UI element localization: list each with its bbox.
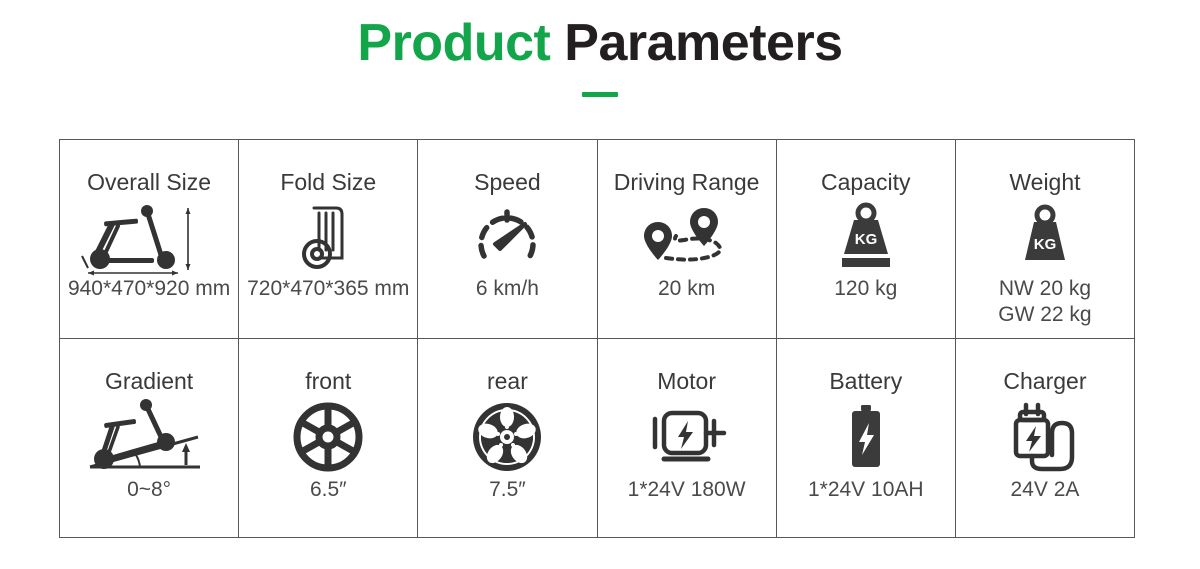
spec-value: 0~8° bbox=[127, 477, 171, 503]
battery-icon bbox=[836, 397, 896, 477]
scooter-folded-dimensions-icon bbox=[74, 200, 224, 276]
speedometer-icon bbox=[469, 200, 545, 276]
table-row: Overall Size bbox=[60, 140, 1134, 338]
spec-label: Charger bbox=[1003, 367, 1086, 395]
spec-label: Weight bbox=[1009, 168, 1080, 196]
spec-label: Capacity bbox=[821, 168, 910, 196]
product-parameters-page: Product Parameters Overall Size bbox=[0, 0, 1200, 569]
spec-value: 720*470*365 mm bbox=[247, 276, 409, 302]
spec-table: Overall Size bbox=[59, 139, 1135, 538]
spec-cell-driving-range: Driving Range bbox=[597, 140, 776, 338]
spec-cell-weight: Weight KG NW 20 kg GW 22 kg bbox=[955, 140, 1134, 338]
scooter-incline-angle-icon bbox=[74, 397, 224, 477]
scooter-folded-upright-icon bbox=[288, 200, 368, 276]
motor-icon bbox=[642, 397, 732, 477]
spec-label: front bbox=[305, 367, 351, 395]
wheel-spoke-icon bbox=[290, 397, 366, 477]
spec-label: rear bbox=[487, 367, 528, 395]
title-underline-rule bbox=[582, 92, 618, 97]
kg-icon-text: KG bbox=[855, 231, 878, 248]
spec-cell-fold-size: Fold Size bbox=[238, 140, 417, 338]
spec-label: Overall Size bbox=[87, 168, 211, 196]
weight-kg-icon: KG bbox=[826, 200, 906, 276]
charger-plug-icon bbox=[1002, 397, 1088, 477]
spec-value: 120 kg bbox=[834, 276, 897, 302]
spec-cell-charger: Charger bbox=[955, 339, 1134, 537]
page-title-rest: Parameters bbox=[550, 14, 842, 72]
spec-value: 1*24V 180W bbox=[628, 477, 746, 503]
spec-value-secondary: GW 22 kg bbox=[998, 302, 1091, 328]
spec-value: 940*470*920 mm bbox=[68, 276, 230, 302]
table-row: Gradient bbox=[60, 338, 1134, 537]
spec-value: 6.5″ bbox=[310, 477, 347, 503]
spec-label: Battery bbox=[829, 367, 902, 395]
route-map-pins-icon bbox=[632, 200, 742, 276]
spec-cell-overall-size: Overall Size bbox=[60, 140, 238, 338]
spec-cell-capacity: Capacity KG 120 kg bbox=[776, 140, 955, 338]
spec-label: Speed bbox=[474, 168, 541, 196]
kg-icon-text: KG bbox=[1034, 236, 1057, 253]
spec-cell-rear-wheel: rear bbox=[417, 339, 596, 537]
weight-kg-icon: KG bbox=[1005, 200, 1085, 276]
spec-label: Driving Range bbox=[614, 168, 760, 196]
page-title-block: Product Parameters bbox=[0, 10, 1200, 97]
spec-value: 24V 2A bbox=[1011, 477, 1080, 503]
spec-value: NW 20 kg bbox=[999, 276, 1091, 302]
spec-label: Motor bbox=[657, 367, 716, 395]
spec-cell-battery: Battery 1*24V 10AH bbox=[776, 339, 955, 537]
spec-value: 7.5″ bbox=[489, 477, 526, 503]
page-title: Product Parameters bbox=[0, 10, 1200, 76]
page-title-accent: Product bbox=[357, 14, 550, 72]
spec-cell-gradient: Gradient bbox=[60, 339, 238, 537]
spec-label: Gradient bbox=[105, 367, 193, 395]
spec-value: 20 km bbox=[658, 276, 715, 302]
spec-cell-front-wheel: front 6.5″ bbox=[238, 339, 417, 537]
tire-alloy-rim-icon bbox=[469, 397, 545, 477]
spec-cell-speed: Speed 6 km/h bbox=[417, 140, 596, 338]
spec-label: Fold Size bbox=[280, 168, 376, 196]
spec-value: 1*24V 10AH bbox=[808, 477, 924, 503]
spec-cell-motor: Motor bbox=[597, 339, 776, 537]
spec-value: 6 km/h bbox=[476, 276, 539, 302]
